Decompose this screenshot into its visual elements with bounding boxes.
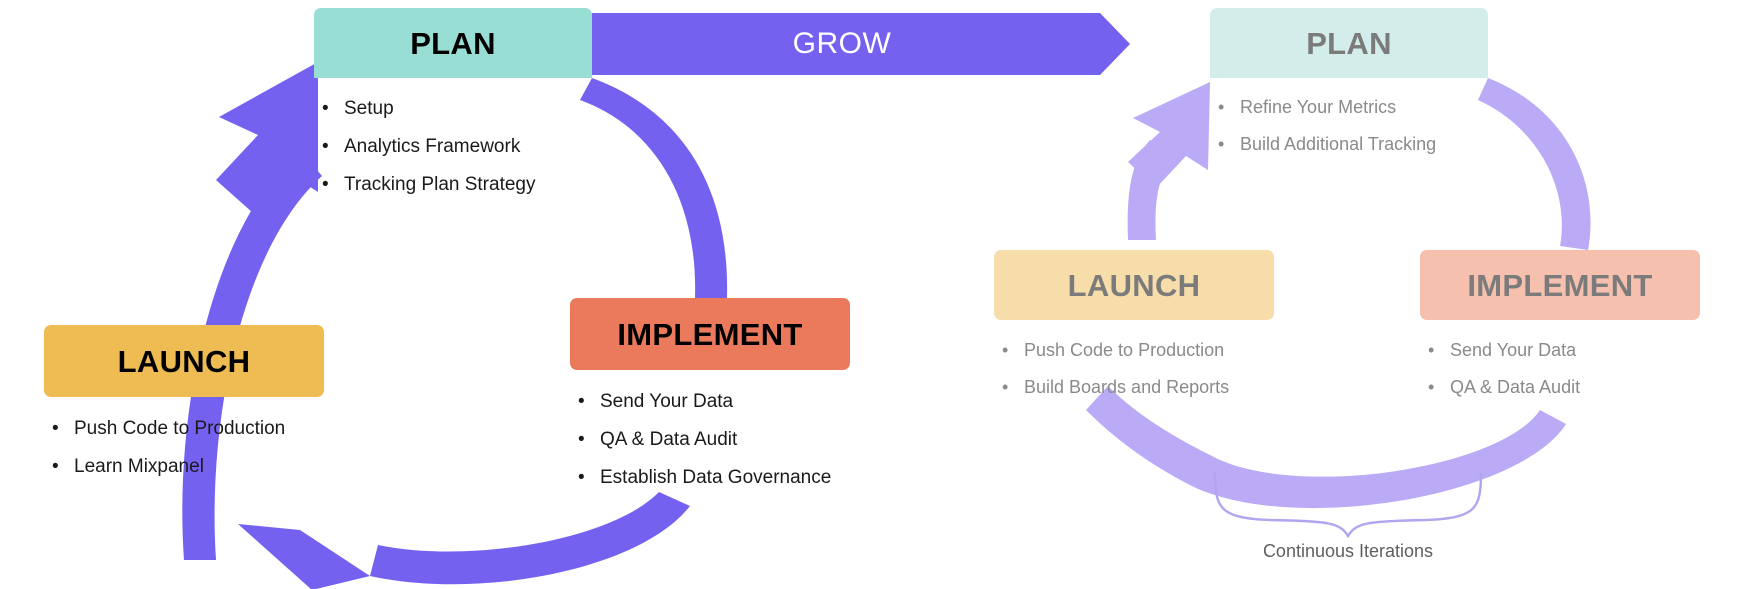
bullet-dot-icon: • [1002,378,1008,398]
bullet-dot-icon: • [322,175,329,196]
grow-banner: GROW [592,13,1130,75]
list-item-label: Learn Mixpanel [74,456,204,477]
arrow-plan-to-implement [580,78,727,298]
arrow-implement-to-launch [238,492,690,589]
phase-implement-active-title: IMPLEMENT [617,319,802,350]
bullet-dot-icon: • [52,457,59,478]
list-item-label: Setup [344,98,394,119]
list-item: • Setup [314,99,592,120]
phase-launch-repeat-bullets: • Push Code to Production • Build Boards… [994,341,1274,398]
bullet-dot-icon: • [1218,98,1224,118]
bullet-dot-icon: • [1428,378,1434,398]
phase-implement-active-bullets: • Send Your Data • QA & Data Audit • Est… [570,392,850,489]
list-item: • Push Code to Production [994,341,1274,361]
list-item-label: Establish Data Governance [600,467,831,488]
continuous-iterations-label: Continuous Iterations [1213,541,1483,562]
list-item: • Analytics Framework [314,137,592,158]
phase-launch-active[interactable]: LAUNCH • Push Code to Production • Learn… [44,325,324,495]
phase-plan-active[interactable]: PLAN • Setup • Analytics Framework • Tra… [314,8,592,213]
list-item: • Build Additional Tracking [1210,135,1488,155]
list-item-label: QA & Data Audit [600,429,737,450]
list-item: • Push Code to Production [44,419,324,440]
phase-launch-active-header: LAUNCH [44,325,324,397]
bullet-dot-icon: • [1218,135,1224,155]
bullet-dot-icon: • [322,99,329,120]
list-item-label: Analytics Framework [344,136,520,157]
phase-plan-active-bullets: • Setup • Analytics Framework • Tracking… [314,99,592,196]
phase-launch-repeat-title: LAUNCH [1068,270,1201,301]
grow-banner-label: GROW [592,13,1092,75]
phase-implement-active-header: IMPLEMENT [570,298,850,370]
list-item: • Refine Your Metrics [1210,98,1488,118]
phase-launch-repeat-header: LAUNCH [994,250,1274,320]
list-item-label: Push Code to Production [74,418,285,439]
list-item: • Send Your Data [570,392,850,413]
phase-plan-active-header: PLAN [314,8,592,78]
list-item-label: Send Your Data [600,391,733,412]
bullet-dot-icon: • [322,137,329,158]
phase-plan-active-title: PLAN [410,28,496,59]
phase-launch-active-title: LAUNCH [118,346,251,377]
phase-launch-repeat[interactable]: LAUNCH • Push Code to Production • Build… [994,250,1274,415]
bullet-dot-icon: • [578,430,585,451]
phase-plan-repeat[interactable]: PLAN • Refine Your Metrics • Build Addit… [1210,8,1488,172]
phase-implement-repeat[interactable]: IMPLEMENT • Send Your Data • QA & Data A… [1420,250,1700,415]
list-item-label: Push Code to Production [1024,340,1224,360]
list-item-label: Build Additional Tracking [1240,134,1436,154]
bullet-dot-icon: • [1428,341,1434,361]
phase-implement-repeat-title: IMPLEMENT [1467,270,1652,301]
phase-launch-active-bullets: • Push Code to Production • Learn Mixpan… [44,419,324,478]
list-item-label: Build Boards and Reports [1024,377,1229,397]
list-item: • Establish Data Governance [570,468,850,489]
list-item-label: Send Your Data [1450,340,1576,360]
phase-plan-repeat-header: PLAN [1210,8,1488,78]
list-item: • Send Your Data [1420,341,1700,361]
bullet-dot-icon: • [52,419,59,440]
list-item: • Build Boards and Reports [994,378,1274,398]
bullet-dot-icon: • [578,392,585,413]
phase-plan-repeat-bullets: • Refine Your Metrics • Build Additional… [1210,98,1488,155]
arrow-repeat-launch-to-plan [1128,82,1210,240]
list-item-label: Refine Your Metrics [1240,97,1396,117]
phase-implement-repeat-bullets: • Send Your Data • QA & Data Audit [1420,341,1700,398]
list-item: • QA & Data Audit [570,430,850,451]
list-item: • Tracking Plan Strategy [314,175,592,196]
bullet-dot-icon: • [578,468,585,489]
list-item: • QA & Data Audit [1420,378,1700,398]
list-item-label: Tracking Plan Strategy [344,174,536,195]
phase-implement-active[interactable]: IMPLEMENT • Send Your Data • QA & Data A… [570,298,850,506]
list-item: • Learn Mixpanel [44,457,324,478]
continuous-iterations-brace [1215,474,1481,536]
arrow-repeat-plan-to-implement [1478,78,1591,250]
list-item-label: QA & Data Audit [1450,377,1580,397]
diagram-canvas: GROW PLAN • Setup • Analytics Framework … [0,0,1740,589]
bullet-dot-icon: • [1002,341,1008,361]
phase-plan-repeat-title: PLAN [1306,28,1392,59]
phase-implement-repeat-header: IMPLEMENT [1420,250,1700,320]
